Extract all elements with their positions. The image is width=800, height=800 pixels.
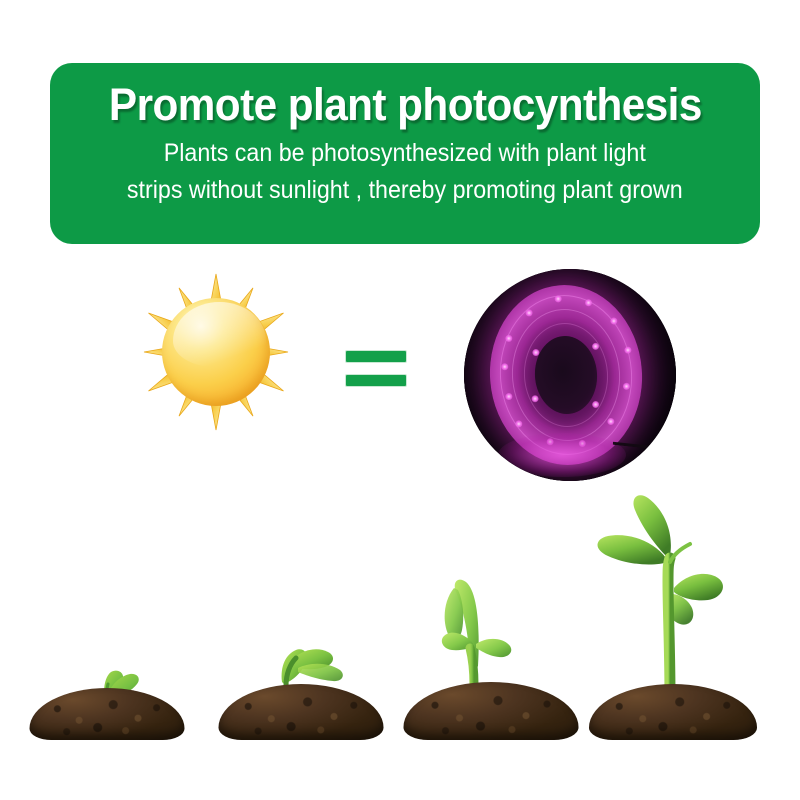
plant-stage-3: stem with first true leaf	[396, 470, 586, 740]
led-dot	[624, 346, 631, 353]
headline-banner: Promote plant photocynthesis Plants can …	[50, 63, 760, 244]
sun-icon	[136, 272, 296, 432]
equals-bar-top	[345, 350, 407, 363]
equals-icon	[345, 342, 407, 390]
page-title: Promote plant photocynthesis	[109, 81, 702, 128]
soil-mound	[589, 684, 757, 740]
equals-bar-bottom	[345, 374, 407, 387]
plant-growth-stages: seed sprouting cotyledons emerging	[0, 470, 800, 740]
soil-mound	[404, 682, 579, 740]
led-dot	[610, 317, 617, 324]
sun-core	[162, 298, 270, 406]
plant-stage-1: seed sprouting	[12, 470, 202, 740]
banner-subtitle-line-2: strips without sunlight , thereby promot…	[127, 172, 683, 208]
plant-stage-2: cotyledons emerging	[206, 470, 396, 740]
banner-subtitle: Plants can be photosynthesized with plan…	[127, 135, 683, 208]
equation-row	[0, 262, 800, 490]
plant-stage-4: young seedling with leaves	[578, 470, 768, 740]
soil-mound	[30, 688, 185, 740]
banner-subtitle-line-1: Plants can be photosynthesized with plan…	[164, 139, 646, 167]
led-strip-reel-photo	[464, 269, 676, 481]
soil-mound	[219, 684, 384, 740]
